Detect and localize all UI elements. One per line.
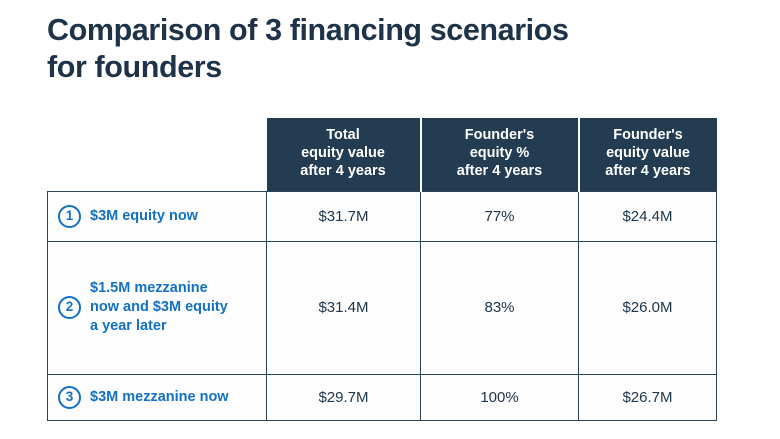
table-header-row: Total equity value after 4 years Founder…	[48, 118, 717, 191]
page-title-line-2: for founders	[47, 49, 727, 86]
scenario-label-line-1: $3M equity now	[90, 207, 198, 226]
table-row: 2 $1.5M mezzanine now and $3M equity a y…	[48, 241, 717, 374]
cell-total-equity-value: $31.7M	[267, 191, 421, 241]
cell-founders-equity-value: $24.4M	[579, 191, 717, 241]
scenario-label-cell: 3 $3M mezzanine now	[48, 374, 267, 420]
scenario-label: $1.5M mezzanine now and $3M equity a yea…	[90, 279, 228, 336]
scenario-label-line-1: $3M mezzanine now	[90, 388, 229, 407]
cell-founders-equity-value: $26.0M	[579, 241, 717, 374]
scenario-number-badge-icon: 1	[58, 205, 81, 228]
scenario-number-badge-icon: 2	[58, 296, 81, 319]
comparison-table: Total equity value after 4 years Founder…	[47, 118, 717, 421]
column-header-line-2: equity value	[584, 145, 713, 163]
column-header-founders-equity-value: Founder's equity value after 4 years	[579, 118, 717, 191]
table-corner-blank	[48, 118, 267, 191]
column-header-line-1: Founder's	[426, 127, 574, 145]
table-header: Total equity value after 4 years Founder…	[48, 118, 717, 191]
scenario-label-line-2: now and $3M equity	[90, 298, 228, 317]
page-title: Comparison of 3 financing scenarios for …	[47, 12, 727, 86]
cell-founders-equity-percent: 77%	[421, 191, 579, 241]
scenario-label-cell: 2 $1.5M mezzanine now and $3M equity a y…	[48, 241, 267, 374]
scenario-label-line-1: $1.5M mezzanine	[90, 279, 228, 298]
column-header-line-3: after 4 years	[426, 163, 574, 181]
scenario-label: $3M equity now	[90, 207, 198, 226]
table-row: 1 $3M equity now $31.7M 77% $24.4M	[48, 191, 717, 241]
scenario-label-cell: 1 $3M equity now	[48, 191, 267, 241]
scenario-number-badge-icon: 3	[58, 386, 81, 409]
page-title-line-1: Comparison of 3 financing scenarios	[47, 12, 727, 49]
scenario-label: $3M mezzanine now	[90, 388, 229, 407]
column-header-line-1: Total	[271, 127, 416, 145]
cell-founders-equity-percent: 83%	[421, 241, 579, 374]
column-header-line-3: after 4 years	[271, 163, 416, 181]
slide-canvas: Comparison of 3 financing scenarios for …	[0, 0, 780, 439]
cell-founders-equity-value: $26.7M	[579, 374, 717, 420]
table-row: 3 $3M mezzanine now $29.7M 100% $26.7M	[48, 374, 717, 420]
table-body: 1 $3M equity now $31.7M 77% $24.4M 2 $1.…	[48, 191, 717, 420]
column-header-line-1: Founder's	[584, 127, 713, 145]
scenario-label-line-3: a year later	[90, 317, 228, 336]
column-header-total-equity-value: Total equity value after 4 years	[267, 118, 421, 191]
column-header-line-3: after 4 years	[584, 163, 713, 181]
column-header-founders-equity-percent: Founder's equity % after 4 years	[421, 118, 579, 191]
cell-founders-equity-percent: 100%	[421, 374, 579, 420]
column-header-line-2: equity value	[271, 145, 416, 163]
cell-total-equity-value: $29.7M	[267, 374, 421, 420]
column-header-line-2: equity %	[426, 145, 574, 163]
cell-total-equity-value: $31.4M	[267, 241, 421, 374]
